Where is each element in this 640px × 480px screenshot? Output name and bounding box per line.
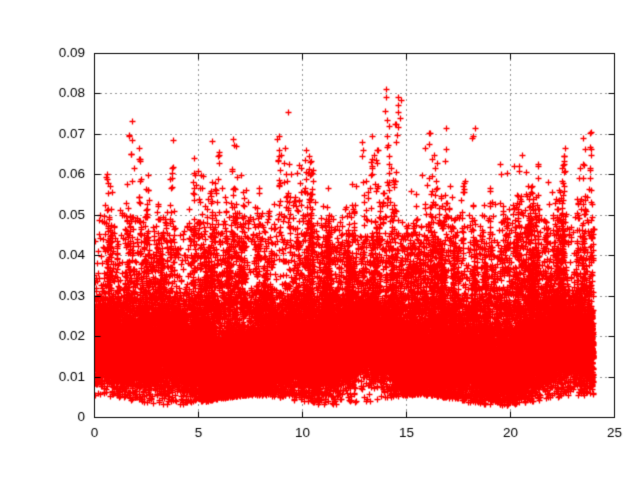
plot-area [0, 0, 640, 480]
chart-root: Day 089 of 2022, Rate Of TEC Index for r… [0, 0, 640, 480]
scatter-plot-canvas [0, 0, 640, 480]
